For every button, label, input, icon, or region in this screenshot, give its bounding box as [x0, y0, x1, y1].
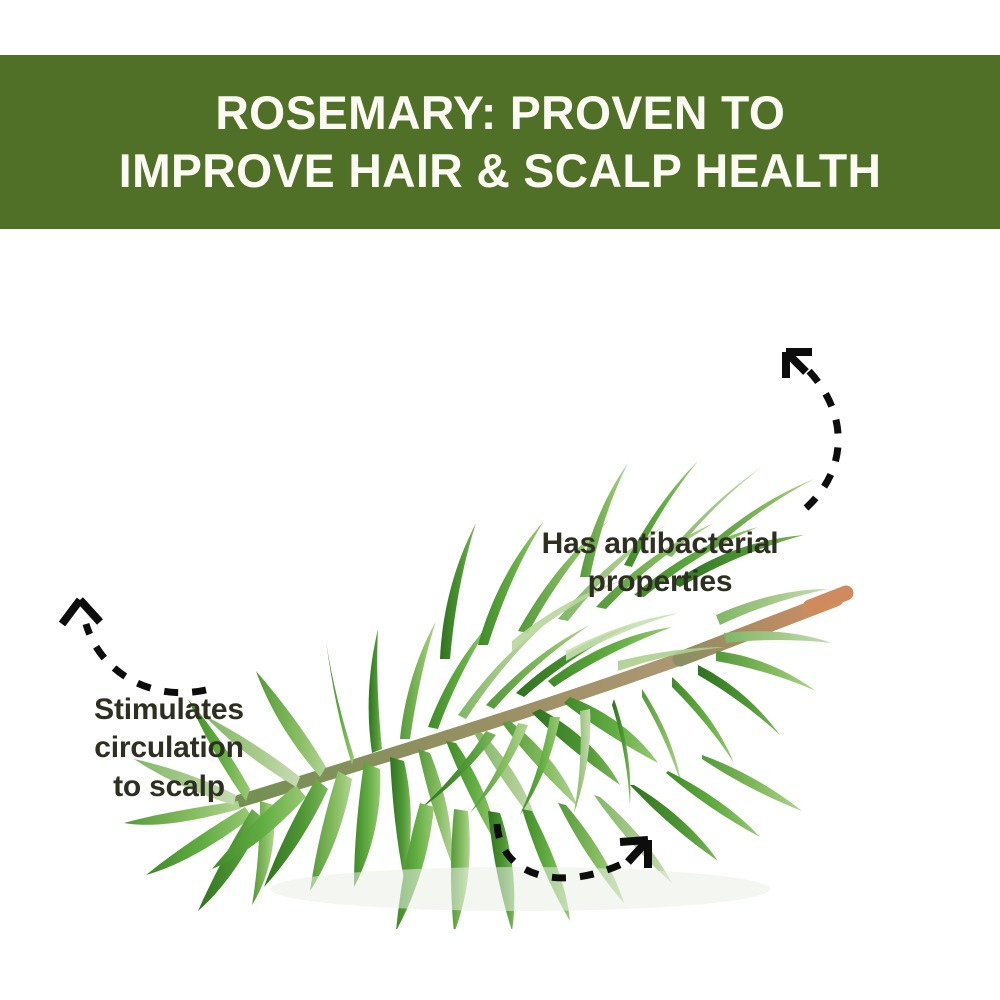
header-title-line-1: ROSEMARY: PROVEN TO	[215, 84, 785, 142]
sprig-shadow	[270, 867, 770, 911]
callout-circulation: Stimulates circulation to scalp	[50, 691, 288, 806]
callout-antibacterial-line-1: Has antibacterial	[480, 525, 840, 563]
callout-circulation-line-3: to scalp	[50, 768, 288, 806]
rosemary-sprig-image	[120, 409, 910, 929]
callout-antibacterial: Has antibacterial properties	[480, 525, 840, 602]
header-banner: ROSEMARY: PROVEN TO IMPROVE HAIR & SCALP…	[0, 55, 1000, 229]
header-title-line-2: IMPROVE HAIR & SCALP HEALTH	[119, 142, 882, 200]
callout-circulation-line-1: Stimulates	[50, 691, 288, 729]
rosemary-photo-area: Has antibacterial properties Stimulates …	[0, 229, 1000, 1000]
callout-antibacterial-line-2: properties	[480, 563, 840, 601]
callout-circulation-line-2: circulation	[50, 729, 288, 767]
infographic-canvas: ROSEMARY: PROVEN TO IMPROVE HAIR & SCALP…	[0, 0, 1000, 1000]
